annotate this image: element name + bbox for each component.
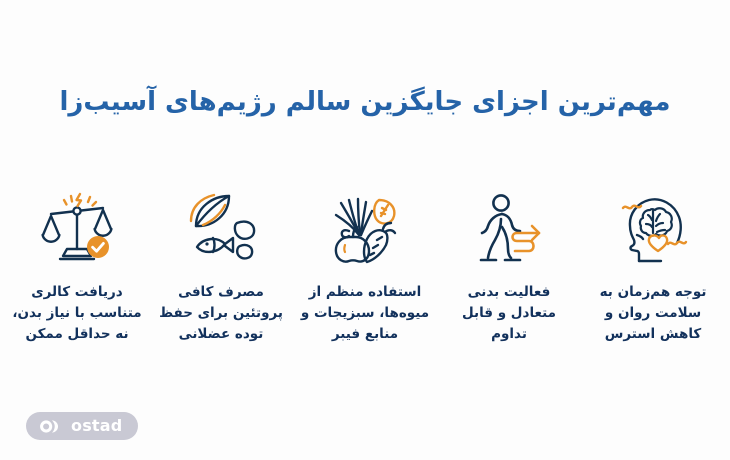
benefit-card-label: توجه هم‌زمان به سلامت روان و کاهش استرس — [587, 282, 719, 345]
infographic-canvas: مهم‌ترین اجزای جایگزین سالم رژیم‌های آسی… — [0, 0, 730, 460]
apple-carrot-leaf-icon — [323, 188, 407, 268]
ostad-logo-mark — [39, 419, 64, 434]
benefit-card-label: استفاده منظم از میوه‌ها، سبزیجات و منابع… — [299, 282, 431, 345]
balance-scale-check-icon — [35, 188, 119, 268]
benefit-card-fiber: استفاده منظم از میوه‌ها، سبزیجات و منابع… — [296, 188, 434, 345]
ostad-logo-text: ostad — [71, 418, 122, 434]
benefit-card-label: مصرف کافی پروتئین برای حفظ توده عضلانی — [155, 282, 287, 345]
benefit-card-label: دریافت کالری متناسب با نیاز بدن، نه حداق… — [11, 282, 143, 345]
fish-beans-protein-icon — [179, 188, 263, 268]
ostad-logo[interactable]: ostad — [26, 412, 138, 440]
benefits-row: دریافت کالری متناسب با نیاز بدن، نه حداق… — [8, 188, 722, 368]
page-title: مهم‌ترین اجزای جایگزین سالم رژیم‌های آسی… — [60, 86, 671, 119]
benefit-card-activity: فعالیت بدنی متعادل و قابل تداوم — [440, 188, 578, 345]
benefit-card-protein: مصرف کافی پروتئین برای حفظ توده عضلانی — [152, 188, 290, 345]
page-title-container: مهم‌ترین اجزای جایگزین سالم رژیم‌های آسی… — [0, 86, 730, 119]
benefit-card-mental-health: توجه هم‌زمان به سلامت روان و کاهش استرس — [584, 188, 722, 345]
head-brain-heart-icon — [611, 188, 695, 268]
benefit-card-label: فعالیت بدنی متعادل و قابل تداوم — [443, 282, 575, 345]
walking-person-arrow-icon — [467, 188, 551, 268]
benefit-card-calorie: دریافت کالری متناسب با نیاز بدن، نه حداق… — [8, 188, 146, 345]
